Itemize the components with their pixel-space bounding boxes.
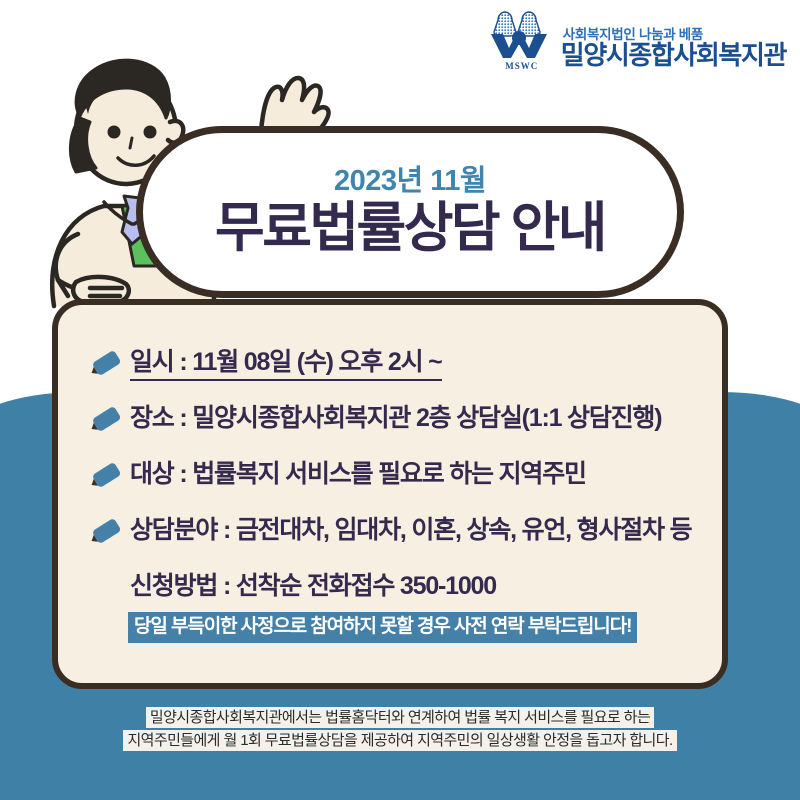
title-date: 2023년 11월	[334, 167, 486, 196]
title-pill: 2023년 11월 무료법률상담 안내	[136, 126, 684, 298]
pencil-marker-icon	[88, 344, 124, 384]
logo-text-block: 사회복지법인 나눔과 베품 밀양시종합사회복지관	[561, 28, 786, 71]
logo-abbreviation: MSWC	[489, 61, 555, 71]
footer-line-1: 밀양시종합사회복지관에서는 법률홈닥터와 연계하여 법률 복지 서비스를 필요로…	[0, 708, 800, 728]
list-item-text: 일시 : 11월 08일 (수) 오후 2시 ~	[130, 344, 442, 381]
page-title: 무료법률상담 안내	[215, 200, 605, 257]
notice-banner: 당일 부득이한 사정으로 참여하지 못할 경우 사전 연락 부탁드립니다!	[128, 612, 637, 643]
pencil-marker-icon	[88, 456, 124, 496]
pencil-marker-icon	[88, 512, 124, 552]
details-list: 일시 : 11월 08일 (수) 오후 2시 ~ 장소 : 밀양시종합사회복지관…	[88, 344, 728, 624]
list-item: 장소 : 밀양시종합사회복지관 2층 상담실(1:1 상담진행)	[88, 400, 728, 456]
pencil-marker-icon	[88, 400, 124, 440]
list-item: 상담분야 : 금전대차, 임대차, 이혼, 상속, 유언, 형사절차 등	[88, 512, 728, 568]
list-item-text: 장소 : 밀양시종합사회복지관 2층 상담실(1:1 상담진행)	[130, 400, 661, 433]
logo-tagline: 사회복지법인 나눔과 베품	[563, 28, 786, 42]
poster-root: MSWC 사회복지법인 나눔과 베품 밀양시종합사회복지관	[0, 0, 800, 800]
footer-description: 밀양시종합사회복지관에서는 법률홈닥터와 연계하여 법률 복지 서비스를 필요로…	[0, 708, 800, 755]
list-item: 대상 : 법률복지 서비스를 필요로 하는 지역주민	[88, 456, 728, 512]
footer-line-1-text: 밀양시종합사회복지관에서는 법률홈닥터와 연계하여 법률 복지 서비스를 필요로…	[146, 707, 654, 728]
footer-line-2-text: 지역주민들에게 월 1회 무료법률상담을 제공하여 지역주민의 일상생활 안정을…	[123, 730, 676, 751]
list-item-text: 대상 : 법률복지 서비스를 필요로 하는 지역주민	[130, 456, 586, 489]
mswc-w-logo-icon: MSWC	[489, 8, 555, 70]
organization-logo: MSWC 사회복지법인 나눔과 베품 밀양시종합사회복지관	[489, 8, 786, 70]
list-item-text: 신청방법 : 선착순 전화접수 350-1000	[130, 568, 496, 601]
list-item: 일시 : 11월 08일 (수) 오후 2시 ~	[88, 344, 728, 400]
footer-line-2: 지역주민들에게 월 1회 무료법률상담을 제공하여 지역주민의 일상생활 안정을…	[0, 731, 800, 751]
logo-org-name: 밀양시종합사회복지관	[561, 42, 786, 68]
list-item-text: 상담분야 : 금전대차, 임대차, 이혼, 상속, 유언, 형사절차 등	[130, 512, 691, 545]
